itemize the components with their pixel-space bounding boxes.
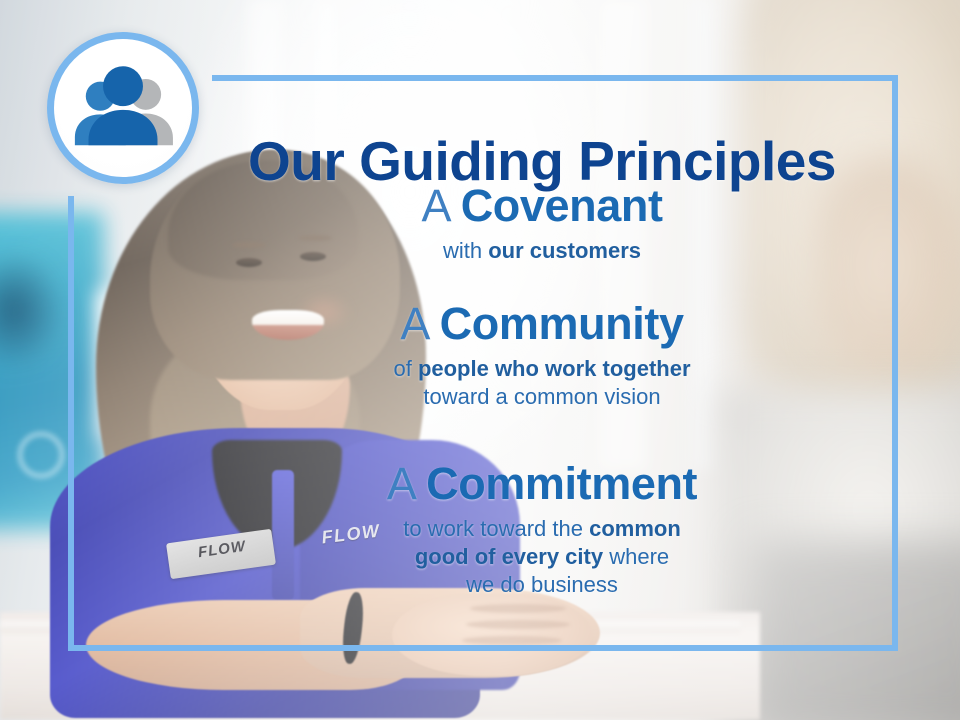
plain-text: toward a common vision bbox=[423, 384, 660, 409]
principle-keyword: Community bbox=[440, 298, 684, 349]
description-line: we do business bbox=[206, 571, 878, 599]
principle-description: to work toward the commongood of every c… bbox=[206, 515, 878, 599]
plain-text: to work toward the bbox=[403, 516, 589, 541]
principle-article: A bbox=[387, 458, 414, 509]
subject-finger bbox=[470, 604, 566, 613]
blurred-vehicle-emblem bbox=[18, 432, 64, 478]
principle-description: with our customers bbox=[206, 237, 878, 265]
blurred-display-shadow bbox=[0, 250, 66, 370]
description-line: toward a common vision bbox=[206, 383, 878, 411]
guiding-principles-graphic: FLOW FLOW Ou bbox=[0, 0, 960, 720]
subject-finger bbox=[462, 636, 562, 645]
description-line: with our customers bbox=[206, 237, 878, 265]
subject-finger bbox=[466, 620, 570, 629]
principle-covenant: A Covenant with our customers bbox=[206, 182, 878, 265]
principle-article: A bbox=[421, 180, 448, 231]
principle-commitment: A Commitment to work toward the commongo… bbox=[206, 460, 878, 599]
emphasis-text: our customers bbox=[488, 238, 641, 263]
emphasis-text: people who work together bbox=[418, 356, 691, 381]
plain-text: we do business bbox=[466, 572, 618, 597]
principle-keyword: Commitment bbox=[426, 458, 697, 509]
principle-heading: A Commitment bbox=[206, 460, 878, 508]
principle-community: A Community of people who work togethert… bbox=[206, 300, 878, 411]
principle-keyword: Covenant bbox=[461, 180, 663, 231]
plain-text: with bbox=[443, 238, 488, 263]
emphasis-text: common bbox=[589, 516, 681, 541]
emphasis-text: good of every city bbox=[415, 544, 603, 569]
principle-description: of people who work togethertoward a comm… bbox=[206, 355, 878, 411]
description-line: of people who work together bbox=[206, 355, 878, 383]
description-line: to work toward the common bbox=[206, 515, 878, 543]
plain-text: where bbox=[603, 544, 669, 569]
plain-text: of bbox=[393, 356, 417, 381]
description-line: good of every city where bbox=[206, 543, 878, 571]
principle-heading: A Community bbox=[206, 300, 878, 348]
principle-heading: A Covenant bbox=[206, 182, 878, 230]
principle-article: A bbox=[400, 298, 427, 349]
people-group-icon bbox=[54, 39, 192, 177]
people-group-badge bbox=[47, 32, 199, 184]
